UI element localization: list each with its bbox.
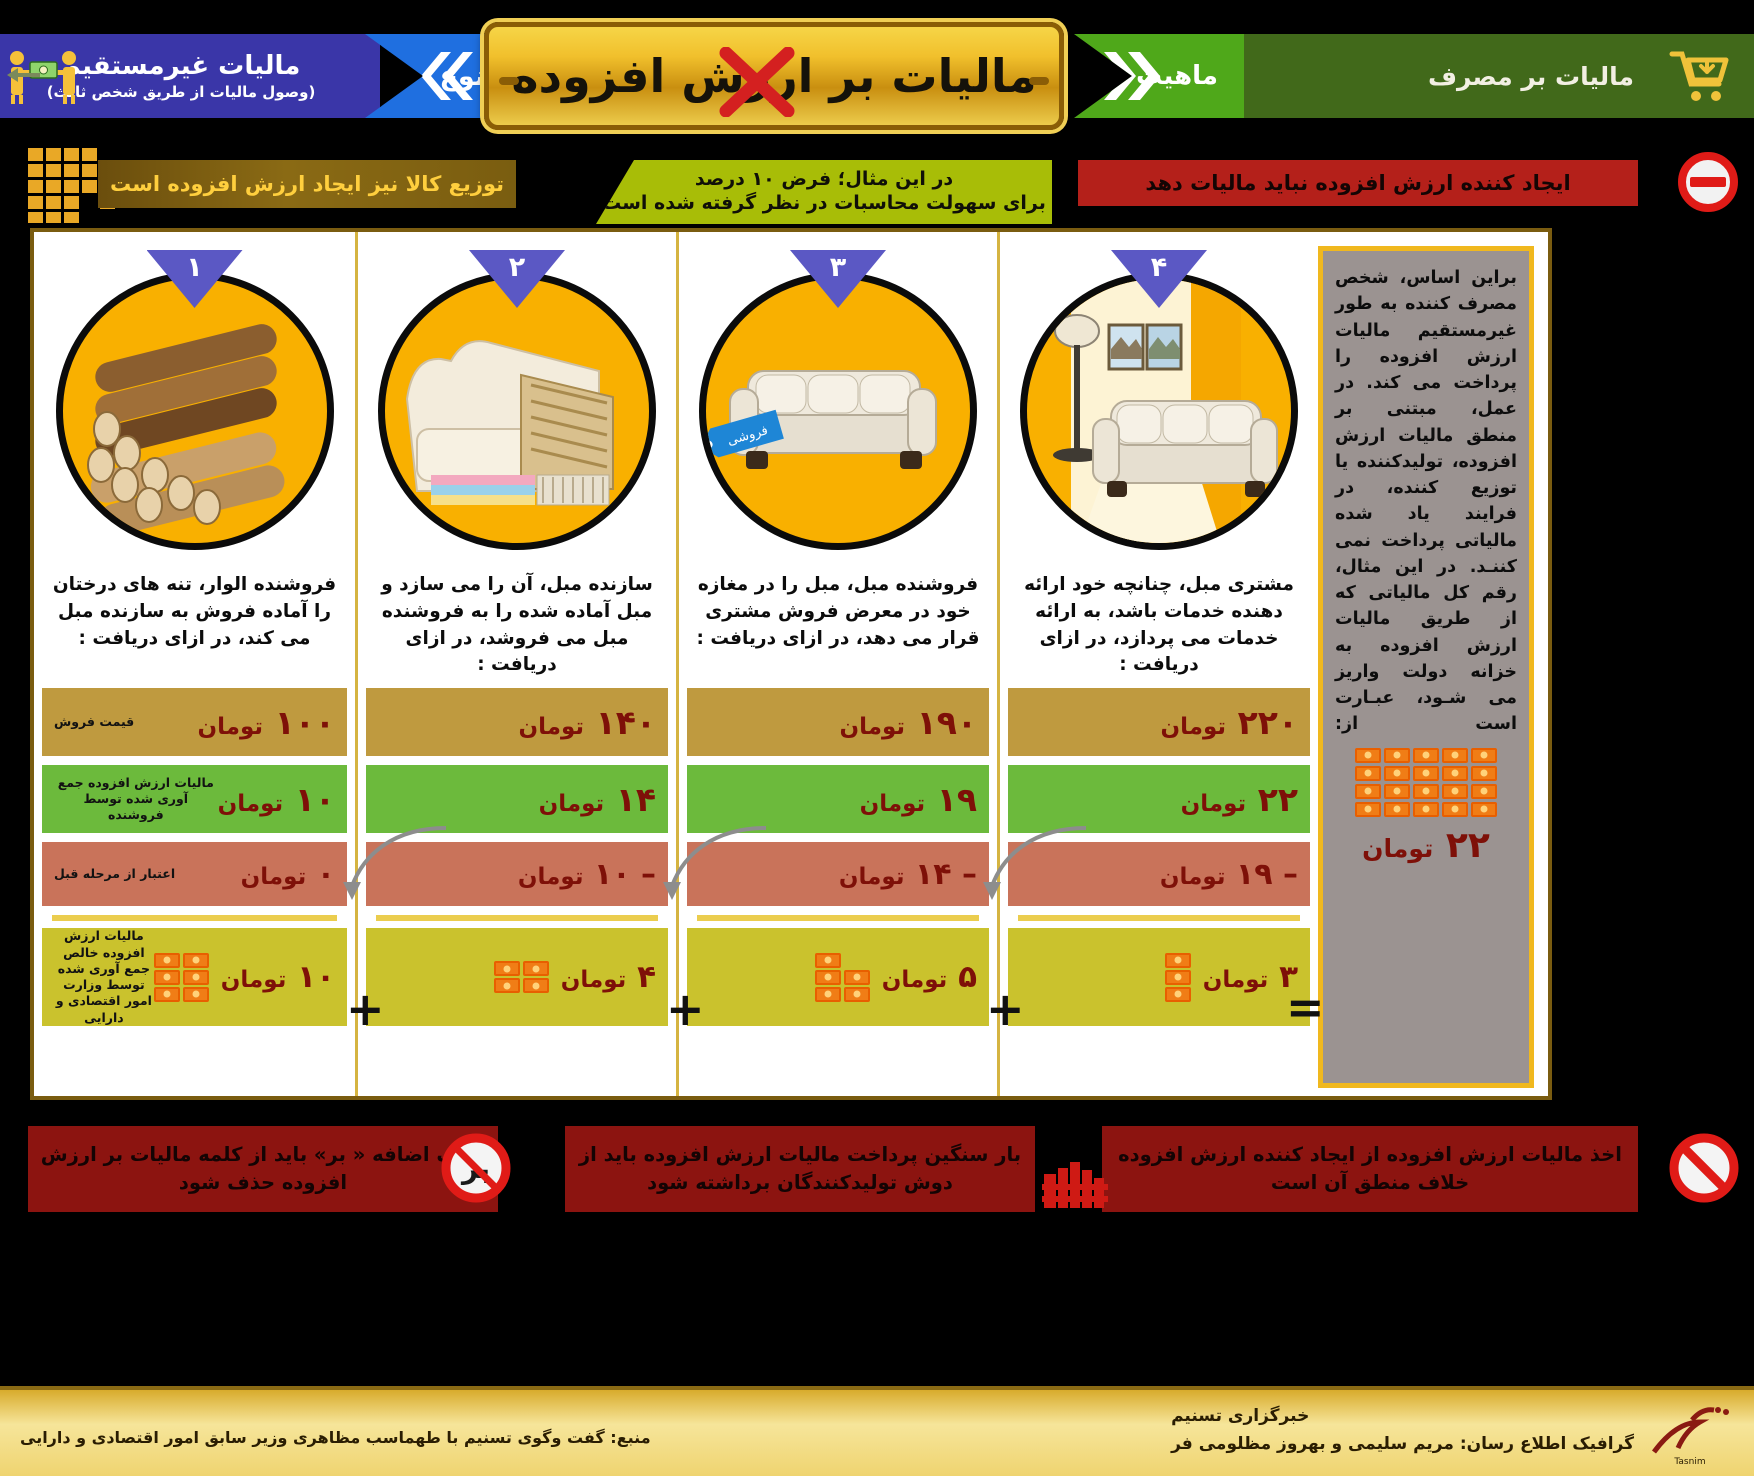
money-bills-icon	[1165, 953, 1191, 1002]
row-divider	[376, 915, 658, 921]
stage-caption: فروشنده مبل، مبل را در مغازه خود در معرض…	[693, 572, 983, 652]
summary-sidebar: براین اساس، شخص مصرف کننده به طور غیرمست…	[1318, 246, 1534, 1088]
previous-credit-label: اعتبار از مرحله قبل	[54, 866, 175, 882]
row-previous-credit: ۰ تومان اعتبار از مرحله قبل	[42, 842, 347, 906]
previous-credit-amount: – ۱۰ تومان	[518, 857, 656, 892]
net-vat-amount: ۱۰ تومان	[221, 959, 335, 995]
sofa-living-room-icon	[1020, 272, 1298, 550]
assumption-line-1: در این مثال؛ فرض ۱۰ درصد	[695, 168, 953, 192]
shopping-cart-icon	[1666, 46, 1732, 106]
vat-collected-amount: ۲۲ تومان	[1181, 780, 1298, 819]
sale-price-amount: ۱۹۰ تومان	[839, 703, 977, 742]
money-bills-icon	[1335, 748, 1517, 817]
previous-credit-amount: – ۱۴ تومان	[839, 857, 977, 892]
row-previous-credit: – ۱۹ تومان	[1008, 842, 1310, 906]
consumption-tax-title: مالیات بر مصرف	[1428, 62, 1634, 91]
plus-operator: +	[986, 982, 1025, 1036]
stage-column-4: ۴	[997, 232, 1318, 1096]
header-consumption-tax: مالیات بر مصرف	[1234, 34, 1754, 118]
stage-columns: ۱	[34, 232, 1320, 1096]
row-net-vat: ۱۰ تومان مالیات ارزش افزوده خالص جمع آور…	[42, 928, 347, 1026]
stage-value-rows: ۲۲۰ تومان ۲۲ تومان – ۱۹ تومان ۳ تومان	[1008, 688, 1310, 1035]
row-vat-collected: ۲۲ تومان	[1008, 765, 1310, 833]
tasnim-news-agency-logo: Tasnim	[1644, 1400, 1736, 1470]
sale-price-amount: ۲۲۰ تومان	[1160, 703, 1298, 742]
row-net-vat: ۵ تومان	[687, 928, 989, 1026]
assumption-banner: در این مثال؛ فرض ۱۰ درصد برای سهولت محاس…	[596, 160, 1052, 224]
row-sale-price: ۱۹۰ تومان	[687, 688, 989, 756]
distribution-banner: توزیع کالا نیز ایجاد ارزش افزوده است	[98, 160, 516, 208]
footer: خبرگزاری تسنیم گرافیک اطلاع رسان: مریم س…	[0, 1386, 1754, 1476]
plus-operator: +	[346, 982, 385, 1036]
sale-price-amount: ۱۰۰ تومان	[197, 703, 335, 742]
bottom-banner-3: حرف اضافه « بر» باید از کلمه مالیات بر ا…	[28, 1126, 498, 1212]
row-vat-collected: ۱۹ تومان	[687, 765, 989, 833]
sidebar-total: ۲۲ تومان	[1335, 825, 1517, 866]
footer-source: منبع: گفت وگوی تسنیم با طهماسب مظاهری وز…	[20, 1428, 651, 1447]
plaque-bolt-right	[1029, 77, 1049, 85]
bottom-banner-3-text: حرف اضافه « بر» باید از کلمه مالیات بر ا…	[28, 1141, 498, 1198]
no-entry-icon	[1668, 1132, 1740, 1204]
sofa-for-sale-icon: فروشی	[699, 272, 977, 550]
bottom-banner-1-text: اخذ مالیات ارزش افزوده از ایجاد کننده ار…	[1102, 1141, 1638, 1198]
row-previous-credit: – ۱۴ تومان	[687, 842, 989, 906]
money-bills-icon	[494, 961, 549, 993]
factory-icon	[1040, 1144, 1112, 1210]
row-divider	[697, 915, 979, 921]
net-vat-amount: ۴ تومان	[561, 959, 656, 995]
bottom-banner-2: بار سنگین پرداخت مالیات ارزش افزوده باید…	[565, 1126, 1035, 1212]
net-vat-amount: ۵ تومان	[882, 959, 977, 995]
row-vat-collected: ۱۴ تومان	[366, 765, 668, 833]
stage-value-rows: ۱۰۰ تومان قیمت فروش ۱۰ تومان مالیات ارزش…	[42, 688, 347, 1035]
net-vat-amount: ۳ تومان	[1203, 959, 1298, 995]
stage-number: ۳	[830, 252, 846, 283]
vat-collected-amount: ۱۴ تومان	[539, 780, 656, 819]
red-cross-out-icon	[718, 47, 796, 117]
stage-caption: فروشنده الوار، تنه های درختان را آماده ف…	[48, 572, 341, 652]
previous-credit-amount: ۰ تومان	[241, 857, 335, 892]
chevron-right-icon	[1084, 50, 1162, 102]
row-net-vat: ۴ تومان	[366, 928, 668, 1026]
assumption-line-2: برای سهولت محاسبات در نظر گرفته شده است	[602, 192, 1046, 216]
vat-collected-label: مالیات ارزش افزوده جمع آوری شده توسط فرو…	[54, 775, 218, 824]
footer-agency: خبرگزاری تسنیم	[1171, 1406, 1634, 1426]
stage-caption: سازنده مبل، آن را می سازد و مبل آماده شد…	[372, 572, 662, 679]
plaque-bolt-left	[499, 77, 519, 85]
row-divider	[1018, 915, 1300, 921]
bottom-banner-1: اخذ مالیات ارزش افزوده از ایجاد کننده ار…	[1102, 1126, 1638, 1212]
svg-text:Tasnim: Tasnim	[1673, 1457, 1705, 1467]
chevron-left-icon	[411, 50, 477, 102]
timber-logs-icon	[56, 272, 334, 550]
vat-collected-amount: ۱۰ تومان	[218, 780, 335, 819]
row-divider	[52, 915, 337, 921]
left-arrow-icon	[6, 66, 40, 84]
money-bills-icon	[154, 953, 209, 1002]
distribution-banner-text: توزیع کالا نیز ایجاد ارزش افزوده است	[110, 172, 504, 196]
row-sale-price: ۲۲۰ تومان	[1008, 688, 1310, 756]
stage-value-rows: ۱۴۰ تومان ۱۴ تومان – ۱۰ تومان ۴ تومان	[366, 688, 668, 1035]
summary-text: براین اساس، شخص مصرف کننده به طور غیرمست…	[1335, 265, 1517, 738]
stage-number: ۲	[509, 252, 525, 283]
money-bills-icon	[815, 953, 870, 1002]
header-indirect-tax: مالیات غیرمستقیم (وصول مالیات از طریق شخ…	[0, 34, 380, 118]
vat-collected-amount: ۱۹ تومان	[860, 780, 977, 819]
plus-operator: +	[666, 982, 705, 1036]
net-vat-label: مالیات ارزش افزوده خالص جمع آوری شده توس…	[54, 928, 154, 1026]
row-sale-price: ۱۴۰ تومان	[366, 688, 668, 756]
infographic-root: مالیات غیرمستقیم (وصول مالیات از طریق شخ…	[0, 0, 1754, 1476]
main-panel: ۱	[30, 228, 1552, 1100]
indirect-tax-title: مالیات غیرمستقیم	[47, 51, 316, 81]
indirect-tax-subtitle: (وصول مالیات از طریق شخص ثالث)	[47, 83, 316, 101]
stage-number: ۱	[186, 252, 202, 283]
row-previous-credit: – ۱۰ تومان	[366, 842, 668, 906]
no-entry-bar-icon: بر	[440, 1132, 512, 1204]
creator-no-tax-banner: ایجاد کننده ارزش افزوده نباید مالیات دهد	[1078, 160, 1638, 206]
creator-no-tax-text: ایجاد کننده ارزش افزوده نباید مالیات دهد	[1145, 171, 1570, 195]
row-net-vat: ۳ تومان	[1008, 928, 1310, 1026]
bottom-banner-2-text: بار سنگین پرداخت مالیات ارزش افزوده باید…	[565, 1141, 1035, 1198]
type-chevron: نوع	[365, 34, 501, 118]
sofa-construction-icon	[378, 272, 656, 550]
sale-price-label: قیمت فروش	[54, 714, 134, 730]
stage-column-2: ۲	[355, 232, 676, 1096]
no-entry-icon	[1678, 152, 1738, 212]
title-plaque: مالیات بر ارزش افزوده	[484, 22, 1064, 130]
previous-credit-amount: – ۱۹ تومان	[1160, 857, 1298, 892]
sale-price-amount: ۱۴۰ تومان	[518, 703, 656, 742]
footer-credit: گرافیک اطلاع رسان: مریم سلیمی و بهروز مظ…	[1171, 1434, 1634, 1454]
equals-operator: =	[1286, 980, 1325, 1034]
row-sale-price: ۱۰۰ تومان قیمت فروش	[42, 688, 347, 756]
stage-value-rows: ۱۹۰ تومان ۱۹ تومان – ۱۴ تومان ۵ تومان	[687, 688, 989, 1035]
stage-column-3: ۳	[676, 232, 997, 1096]
stage-number: ۴	[1151, 252, 1167, 283]
nature-chevron: ماهیت	[1074, 34, 1244, 118]
row-vat-collected: ۱۰ تومان مالیات ارزش افزوده جمع آوری شده…	[42, 765, 347, 833]
stage-caption: مشتری مبل، چنانچه خود ارائه دهنده خدمات …	[1014, 572, 1304, 679]
stage-column-1: ۱	[34, 232, 355, 1096]
